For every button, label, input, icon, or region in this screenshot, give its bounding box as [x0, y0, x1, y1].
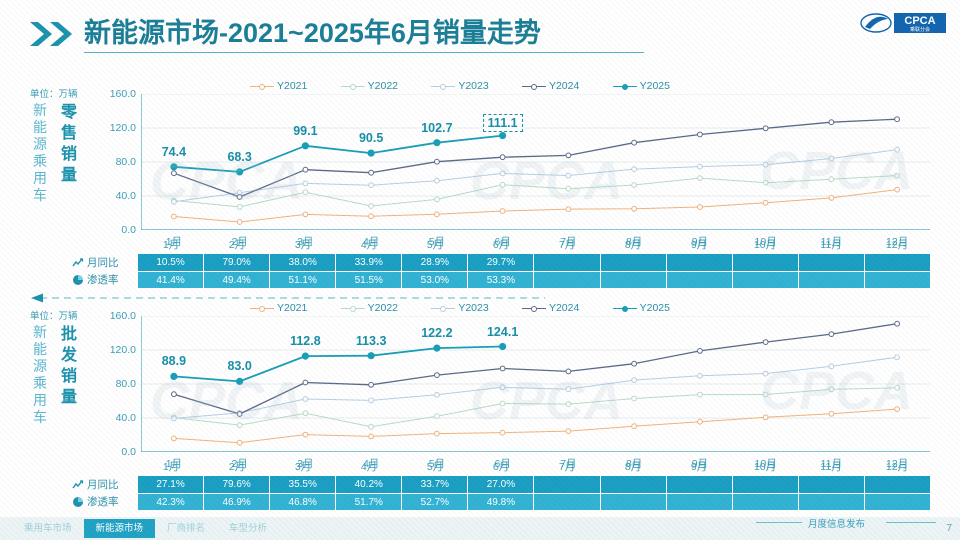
- column-header: 11月: [798, 236, 864, 254]
- table-cell: 42.3%: [138, 494, 204, 510]
- table-cell: 51.1%: [270, 272, 336, 288]
- legend-line-swatch: [341, 86, 365, 87]
- table-cell: 53.3%: [468, 272, 534, 288]
- table-cell: 27.0%: [468, 476, 534, 493]
- legend-line-swatch: [613, 86, 637, 87]
- table-cell: [667, 476, 733, 493]
- table-cell: 40.2%: [336, 476, 402, 493]
- table-row: 41.4%49.4%51.1%51.5%53.0%53.3%: [138, 271, 930, 288]
- column-header: 5月: [402, 458, 468, 476]
- legend-item-y2024[interactable]: Y2024: [522, 302, 579, 314]
- legend-label: Y2023: [458, 302, 488, 314]
- row-label: 月同比: [72, 476, 136, 493]
- legend-line-swatch: [431, 308, 455, 309]
- y-axis-tick: 120.0: [96, 344, 136, 356]
- line-chart: 160.0120.080.040.00.074.468.399.190.5102…: [0, 94, 960, 230]
- row-label: 渗透率: [72, 271, 136, 288]
- table-row: 10.5%79.0%38.0%33.9%28.9%29.7%: [138, 254, 930, 271]
- page-title-wrap: 新能源市场-2021~2025年6月销量走势: [84, 16, 541, 50]
- double-chevron-right-icon: [28, 20, 78, 48]
- column-header: 12月: [864, 236, 930, 254]
- line-chart-icon: [72, 479, 84, 491]
- plot-area: 88.983.0112.8113.3122.2124.1: [141, 316, 930, 452]
- footer-rule-left: [756, 522, 802, 523]
- table-cell: 51.5%: [336, 272, 402, 288]
- data-table-header: 1月2月3月4月5月6月7月8月9月10月11月12月: [138, 236, 930, 254]
- legend-label: Y2021: [277, 302, 307, 314]
- table-cell: [667, 254, 733, 271]
- legend-marker: [259, 306, 265, 312]
- data-value-label: 88.9: [162, 354, 186, 368]
- column-header: 2月: [204, 458, 270, 476]
- data-value-label: 122.2: [421, 326, 452, 340]
- table-row: 42.3%46.9%46.8%51.7%52.7%49.8%: [138, 493, 930, 510]
- table-cell: 33.9%: [336, 254, 402, 271]
- legend-marker: [259, 84, 265, 90]
- table-cell: [733, 494, 799, 510]
- legend-line-swatch: [341, 308, 365, 309]
- column-header: 7月: [534, 458, 600, 476]
- table-cell: 46.8%: [270, 494, 336, 510]
- table-cell: [667, 494, 733, 510]
- plot-area: 74.468.399.190.5102.7111.1: [141, 94, 930, 230]
- y-axis: 160.0120.080.040.00.0: [92, 94, 136, 230]
- footer-tabs[interactable]: 乘用车市场新能源市场厂商排名车型分析: [12, 519, 279, 538]
- table-cell: [733, 254, 799, 271]
- legend-item-y2025[interactable]: Y2025: [613, 80, 670, 92]
- legend-marker: [531, 306, 537, 312]
- data-table: 月同比渗透率1月2月3月4月5月6月7月8月9月10月11月12月10.5%79…: [0, 236, 960, 288]
- row-label: 月同比: [72, 254, 136, 271]
- line-chart: 160.0120.080.040.00.088.983.0112.8113.31…: [0, 316, 960, 452]
- table-row: 27.1%79.6%35.5%40.2%33.7%27.0%: [138, 476, 930, 493]
- legend-marker: [622, 306, 628, 312]
- data-table-header: 1月2月3月4月5月6月7月8月9月10月11月12月: [138, 458, 930, 476]
- y-axis-tick: 80.0: [96, 156, 136, 168]
- cpca-logo-icon: CPCA 乘联分会: [860, 10, 948, 36]
- legend-item-y2023[interactable]: Y2023: [431, 80, 488, 92]
- column-header: 4月: [336, 236, 402, 254]
- column-header: 11月: [798, 458, 864, 476]
- legend-label: Y2025: [640, 80, 670, 92]
- footer-tab-3[interactable]: 车型分析: [217, 519, 279, 538]
- legend-label: Y2024: [549, 80, 579, 92]
- legend-item-y2022[interactable]: Y2022: [341, 80, 398, 92]
- table-cell: [733, 476, 799, 493]
- column-header: 5月: [402, 236, 468, 254]
- legend-marker: [440, 306, 446, 312]
- legend-line-swatch: [522, 308, 546, 309]
- svg-text:乘联分会: 乘联分会: [910, 26, 930, 33]
- footer-note: 月度信息发布: [808, 516, 865, 530]
- legend-item-y2021[interactable]: Y2021: [250, 80, 307, 92]
- column-header: 1月: [138, 236, 204, 254]
- section-divider-arrow: [30, 293, 550, 303]
- column-header: 1月: [138, 458, 204, 476]
- row-label-text: 渗透率: [87, 494, 119, 509]
- table-cell: 46.9%: [204, 494, 270, 510]
- legend-line-swatch: [250, 308, 274, 309]
- y-axis-tick: 160.0: [96, 88, 136, 100]
- data-value-label: 90.5: [359, 131, 383, 145]
- y-axis-tick: 40.0: [96, 190, 136, 202]
- pie-chart-icon: [72, 496, 84, 508]
- column-header: 4月: [336, 458, 402, 476]
- page-title: 新能源市场-2021~2025年6月销量走势: [84, 16, 541, 50]
- table-cell: 79.0%: [204, 254, 270, 271]
- table-cell: [534, 476, 600, 493]
- y-axis-tick: 0.0: [96, 224, 136, 236]
- table-cell: 29.7%: [468, 254, 534, 271]
- line-chart-icon: [72, 257, 84, 269]
- table-cell: 53.0%: [402, 272, 468, 288]
- column-header: 3月: [270, 236, 336, 254]
- table-cell: 28.9%: [402, 254, 468, 271]
- legend-item-y2022[interactable]: Y2022: [341, 302, 398, 314]
- footer-rule-right: [886, 522, 936, 523]
- legend-item-y2021[interactable]: Y2021: [250, 302, 307, 314]
- table-cell: 27.1%: [138, 476, 204, 493]
- table-cell: 51.7%: [336, 494, 402, 510]
- column-header: 6月: [468, 236, 534, 254]
- slide-header: 新能源市场-2021~2025年6月销量走势 CPCA 乘联分会: [0, 0, 960, 62]
- table-cell: [601, 254, 667, 271]
- column-header: 2月: [204, 236, 270, 254]
- legend-label: Y2022: [368, 302, 398, 314]
- chart-panel-retail: 单位：万辆新能源乘用车零售销量Y2021Y2022Y2023Y2024Y2025…: [0, 78, 960, 293]
- table-cell: 35.5%: [270, 476, 336, 493]
- table-cell: [865, 272, 930, 288]
- chart-legend: Y2021Y2022Y2023Y2024Y2025: [250, 78, 670, 94]
- column-header: 8月: [600, 236, 666, 254]
- row-label: 渗透率: [72, 493, 136, 510]
- table-cell: 10.5%: [138, 254, 204, 271]
- legend-marker: [350, 306, 356, 312]
- column-header: 8月: [600, 458, 666, 476]
- column-header: 3月: [270, 458, 336, 476]
- data-table: 月同比渗透率1月2月3月4月5月6月7月8月9月10月11月12月27.1%79…: [0, 458, 960, 510]
- data-value-label: 124.1: [487, 325, 518, 339]
- table-cell: 38.0%: [270, 254, 336, 271]
- column-header: 10月: [732, 236, 798, 254]
- table-cell: [799, 476, 865, 493]
- legend-line-swatch: [613, 308, 637, 309]
- table-cell: [534, 254, 600, 271]
- y-axis-tick: 80.0: [96, 378, 136, 390]
- data-value-label: 68.3: [227, 150, 251, 164]
- table-cell: [865, 476, 930, 493]
- legend-marker: [531, 84, 537, 90]
- table-cell: [865, 494, 930, 510]
- row-label-text: 月同比: [87, 255, 119, 270]
- data-value-label: 112.8: [290, 334, 321, 348]
- data-table-grid: 1月2月3月4月5月6月7月8月9月10月11月12月27.1%79.6%35.…: [138, 458, 930, 510]
- column-header: 7月: [534, 236, 600, 254]
- svg-text:CPCA: CPCA: [904, 15, 935, 27]
- table-cell: 49.8%: [468, 494, 534, 510]
- table-cell: [534, 494, 600, 510]
- table-cell: [601, 476, 667, 493]
- column-header: 9月: [666, 236, 732, 254]
- footer-tab-1[interactable]: 新能源市场: [84, 519, 156, 538]
- legend-label: Y2023: [458, 80, 488, 92]
- footer-tab-0[interactable]: 乘用车市场: [12, 519, 84, 538]
- legend-marker: [622, 84, 628, 90]
- legend-label: Y2022: [368, 80, 398, 92]
- table-cell: 79.6%: [204, 476, 270, 493]
- table-cell: [601, 494, 667, 510]
- y-axis-tick: 160.0: [96, 310, 136, 322]
- y-axis-tick: 0.0: [96, 446, 136, 458]
- legend-marker: [350, 84, 356, 90]
- page-number: 7: [946, 523, 952, 534]
- legend-line-swatch: [250, 86, 274, 87]
- y-axis: 160.0120.080.040.00.0: [92, 316, 136, 452]
- data-value-label: 111.1: [483, 114, 523, 132]
- title-underline: [84, 52, 644, 53]
- pie-chart-icon: [72, 274, 84, 286]
- table-cell: [799, 272, 865, 288]
- chart-panel-wholesale: 单位：万辆新能源乘用车批发销量Y2021Y2022Y2023Y2024Y2025…: [0, 300, 960, 515]
- data-value-label: 99.1: [293, 124, 317, 138]
- table-cell: [865, 254, 930, 271]
- data-table-grid: 1月2月3月4月5月6月7月8月9月10月11月12月10.5%79.0%38.…: [138, 236, 930, 288]
- footer-note-wrap: 月度信息发布: [756, 516, 946, 538]
- table-cell: 52.7%: [402, 494, 468, 510]
- legend-label: Y2025: [640, 302, 670, 314]
- table-cell: [733, 272, 799, 288]
- legend-item-y2023[interactable]: Y2023: [431, 302, 488, 314]
- column-header: 6月: [468, 458, 534, 476]
- column-header: 12月: [864, 458, 930, 476]
- table-cell: 33.7%: [402, 476, 468, 493]
- data-value-label: 102.7: [421, 121, 452, 135]
- table-cell: 41.4%: [138, 272, 204, 288]
- table-cell: [534, 272, 600, 288]
- row-label-text: 渗透率: [87, 272, 119, 287]
- row-label-text: 月同比: [87, 477, 119, 492]
- legend-marker: [440, 84, 446, 90]
- legend-line-swatch: [431, 86, 455, 87]
- column-header: 9月: [666, 458, 732, 476]
- data-value-label: 83.0: [227, 359, 251, 373]
- table-cell: [601, 272, 667, 288]
- legend-label: Y2021: [277, 80, 307, 92]
- y-axis-tick: 120.0: [96, 122, 136, 134]
- legend-line-swatch: [522, 86, 546, 87]
- legend-label: Y2024: [549, 302, 579, 314]
- data-value-label: 74.4: [162, 145, 186, 159]
- legend-item-y2025[interactable]: Y2025: [613, 302, 670, 314]
- y-axis-tick: 40.0: [96, 412, 136, 424]
- table-cell: 49.4%: [204, 272, 270, 288]
- data-value-label: 113.3: [356, 334, 387, 348]
- table-cell: [799, 494, 865, 510]
- table-cell: [667, 272, 733, 288]
- footer-tab-2[interactable]: 厂商排名: [155, 519, 217, 538]
- legend-item-y2024[interactable]: Y2024: [522, 80, 579, 92]
- column-header: 10月: [732, 458, 798, 476]
- table-cell: [799, 254, 865, 271]
